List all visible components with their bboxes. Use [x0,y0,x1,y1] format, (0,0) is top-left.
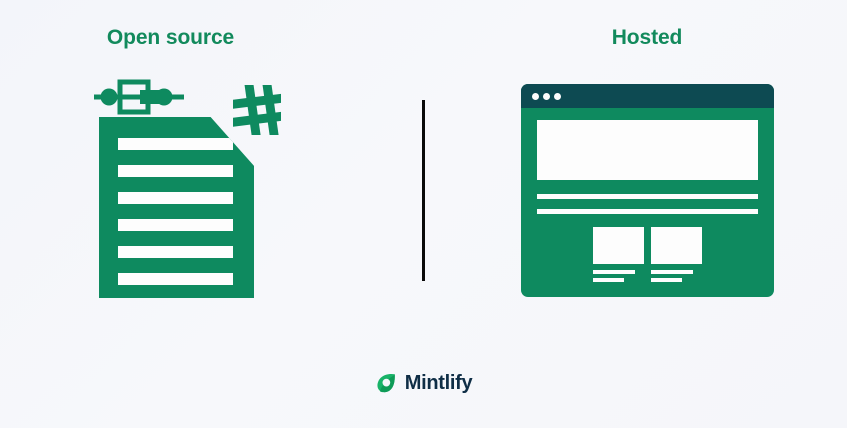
open-source-illustration [85,76,295,298]
document-icon [99,117,254,298]
traffic-light-dot [554,93,561,100]
vertical-divider [422,100,425,281]
card-caption-line [651,270,693,274]
browser-window-icon [521,84,774,297]
document-text-line [118,246,233,258]
hero-block [537,120,758,180]
document-text-line [118,138,233,150]
card-caption-line [593,278,624,282]
traffic-light-dot [543,93,550,100]
content-text-bar [537,209,758,214]
traffic-light-dot [532,93,539,100]
column-heading-open-source: Open source [0,26,341,50]
comparison-graphic: Open source Hosted [0,0,847,428]
card-caption-line [651,278,682,282]
card-caption-line [593,270,635,274]
content-text-bar [537,194,758,199]
document-text-line [118,165,233,177]
column-heading-hosted: Hosted [522,26,772,50]
browser-titlebar [521,84,774,108]
hash-icon [231,81,283,139]
mintlify-logo: Mintlify [0,372,847,394]
document-text-line [118,219,233,231]
mintlify-leaf-icon [375,372,397,394]
content-card [593,227,644,264]
git-branch-icon [94,78,184,116]
mintlify-wordmark: Mintlify [405,373,473,393]
content-card [651,227,702,264]
document-text-line [118,192,233,204]
document-text-line [118,273,233,285]
